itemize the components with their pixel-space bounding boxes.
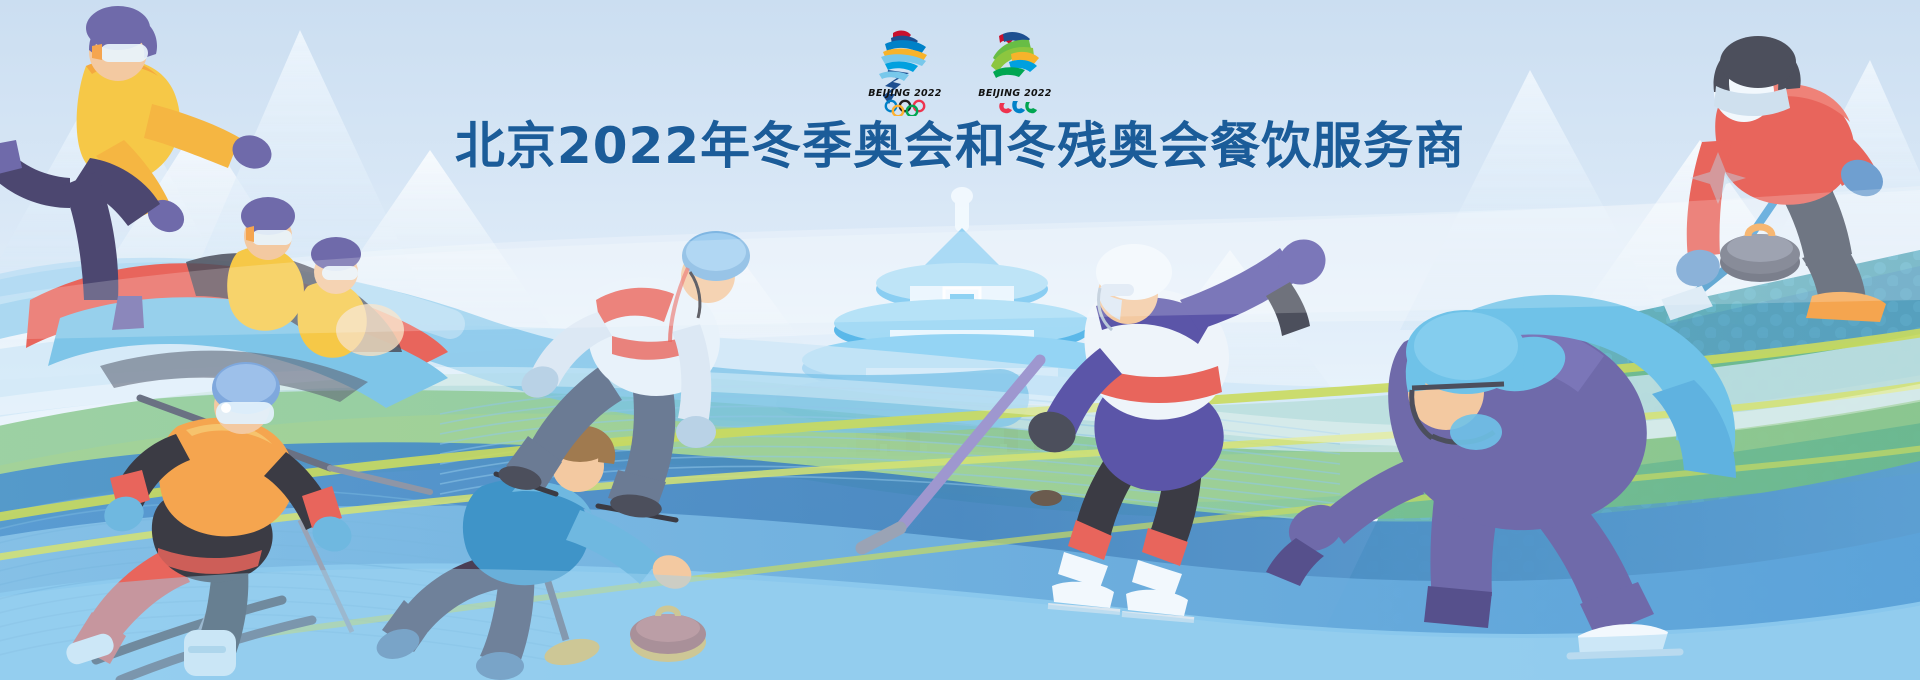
paralympic-emblem-ribbons <box>991 32 1039 78</box>
paralympic-wordmark: BEIJING 2022 <box>978 88 1052 99</box>
olympic-wordmark: BEIJING 2022 <box>868 88 942 99</box>
emblem-row: BEIJING 2022 <box>0 24 1920 116</box>
paralympic-emblem[interactable]: BEIJING 2022 <box>973 24 1057 116</box>
page-title: 北京2022年冬季奥会和冬残奥会餐饮服务商 <box>0 118 1920 174</box>
olympic-rings <box>886 101 924 116</box>
olympic-banner: BEIJING 2022 <box>0 0 1920 680</box>
agitos-icon <box>999 101 1037 113</box>
olympic-emblem[interactable]: BEIJING 2022 <box>863 24 947 116</box>
